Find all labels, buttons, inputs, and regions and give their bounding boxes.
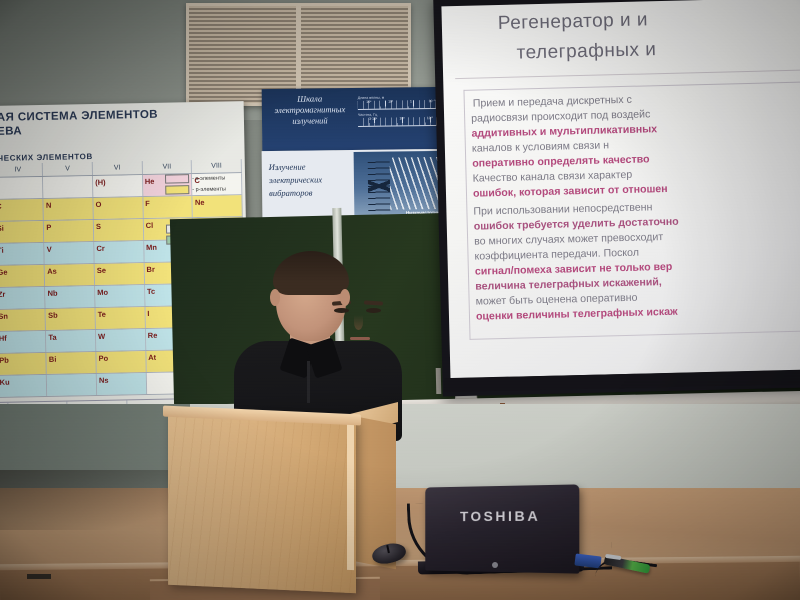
element-symbol: I: [147, 309, 149, 318]
element-symbol: Sb: [48, 311, 58, 320]
element-symbol: C: [0, 202, 2, 211]
screen-mount-rod: [436, 368, 442, 394]
legend-swatch-p: [165, 185, 189, 194]
element-symbol: Nb: [48, 289, 58, 298]
element-symbol: Cl: [146, 221, 154, 230]
element-symbol: Mn: [146, 243, 157, 252]
element-symbol: Te: [98, 310, 106, 319]
element-symbol: Cr: [96, 244, 105, 253]
pen-clip: [605, 554, 621, 560]
lectern: [168, 410, 356, 594]
group-header: IV: [0, 163, 43, 177]
element-symbol: Zr: [0, 290, 6, 299]
laptop-lid[interactable]: TOSHIBA: [425, 484, 579, 573]
mouth: [350, 337, 370, 340]
group-header: VIII: [192, 159, 242, 173]
legend-label: - s-элементы: [192, 175, 225, 182]
element-symbol: W: [98, 332, 105, 341]
legend-item: - s-элементы: [165, 173, 241, 183]
element-symbol: Tc: [147, 287, 155, 296]
electric-vibrators-poster: Излучение электрических вибраторов Низко…: [262, 149, 449, 221]
em-tick: 10⁴: [366, 100, 371, 104]
element-symbol: Sn: [0, 312, 8, 321]
element-symbol: Po: [98, 354, 108, 363]
lectern-right-edge: [347, 418, 354, 570]
slide-title: Регенератор и и телеграфных и: [497, 0, 800, 69]
element-symbol: Bi: [49, 355, 57, 364]
em-ticks-bottom: 3·10⁴ 10⁸ 10¹²: [358, 116, 444, 121]
element-symbol: O: [95, 200, 101, 209]
element-symbol: Ns: [99, 376, 109, 385]
em-axis-top: 10⁴ 10² 1 10⁻²: [358, 100, 444, 110]
legend-swatch-s: [165, 174, 189, 183]
group-header: V: [43, 162, 93, 176]
eye-left: [334, 308, 349, 313]
element-symbol: Pb: [0, 356, 9, 365]
element-symbol: Re: [148, 331, 158, 340]
presenter-hair: [273, 251, 349, 295]
lectern-wood-grain: [168, 410, 356, 594]
em-tick: 10¹²: [427, 116, 433, 120]
ear-left: [270, 289, 280, 306]
element-symbol: (H): [95, 178, 106, 187]
em-tick: 10²: [388, 100, 393, 104]
element-symbol: Br: [146, 265, 155, 274]
em-tick: 10⁸: [399, 116, 404, 120]
eyebrow-right: [364, 300, 383, 305]
element-symbol: N: [46, 201, 52, 210]
element-symbol: Hf: [0, 334, 7, 343]
em-tick: 1: [410, 99, 412, 103]
element-symbol: Se: [97, 266, 106, 275]
legend-label: - p-элементы: [192, 186, 226, 193]
vibrators-title: Излучение электрических вибраторов: [269, 160, 349, 200]
element-symbol: V: [47, 245, 52, 254]
ear-right: [340, 289, 350, 306]
slide-title-line1: Регенератор и и: [498, 9, 649, 34]
slide-title-line2: телеграфных и: [516, 30, 800, 68]
laptop-brand-logo: TOSHIBA: [425, 507, 579, 524]
slide-title-rule: [455, 69, 800, 79]
element-symbol: At: [148, 353, 156, 362]
element-symbol: Si: [0, 224, 4, 233]
element-symbol: F: [145, 199, 150, 208]
antenna-tower-icon: [368, 158, 391, 216]
element-symbol: Ku: [0, 378, 10, 387]
presentation-slide: Регенератор и и телеграфных и Прием и пе…: [441, 0, 800, 378]
legend-item: - p-элементы: [165, 184, 241, 194]
projection-screen: Регенератор и и телеграфных и Прием и пе…: [433, 0, 800, 396]
mouse-button-split: [386, 545, 389, 553]
element-symbol: P: [46, 223, 51, 232]
eye-right: [366, 308, 381, 313]
nose: [354, 315, 363, 330]
element-symbol: Ta: [48, 333, 56, 342]
em-scale-title: Шкала электромагнитных излучений: [268, 93, 352, 127]
group-header: VII: [142, 160, 192, 174]
em-ticks-top: 10⁴ 10² 1 10⁻²: [358, 99, 444, 104]
shirt-placket: [307, 361, 310, 403]
em-scale-diagram: Длина волны, м 10⁴ 10² 1 10⁻² Частота, Г…: [358, 95, 444, 130]
element-symbol: As: [47, 267, 57, 276]
em-axis-bottom: 3·10⁴ 10⁸ 10¹²: [358, 117, 444, 127]
radio-tower-image: Низкочастотные: [354, 151, 447, 218]
em-tick: 3·10⁴: [369, 117, 377, 121]
slide-text-box: Прием и передача дискретных с радиосвязи…: [463, 81, 800, 340]
element-symbol: Ti: [0, 246, 4, 255]
element-symbol: He: [145, 177, 155, 186]
element-symbol: S: [96, 222, 101, 231]
group-header: VI: [93, 161, 143, 175]
element-symbol: Mo: [97, 288, 108, 297]
desk-hinge: [27, 574, 51, 579]
laptop-hinge-dot: [492, 562, 498, 568]
classroom-photo: ДИЧЕСКАЯ СИСТЕМА ЭЛЕМЕНТОВ ЕНДЕЛЕЕВА ППЫ…: [0, 0, 800, 600]
em-scale-poster: Шкала электромагнитных излучений Длина в…: [262, 87, 449, 151]
element-symbol: Ge: [0, 268, 8, 277]
em-tick: 10⁻²: [429, 99, 436, 103]
